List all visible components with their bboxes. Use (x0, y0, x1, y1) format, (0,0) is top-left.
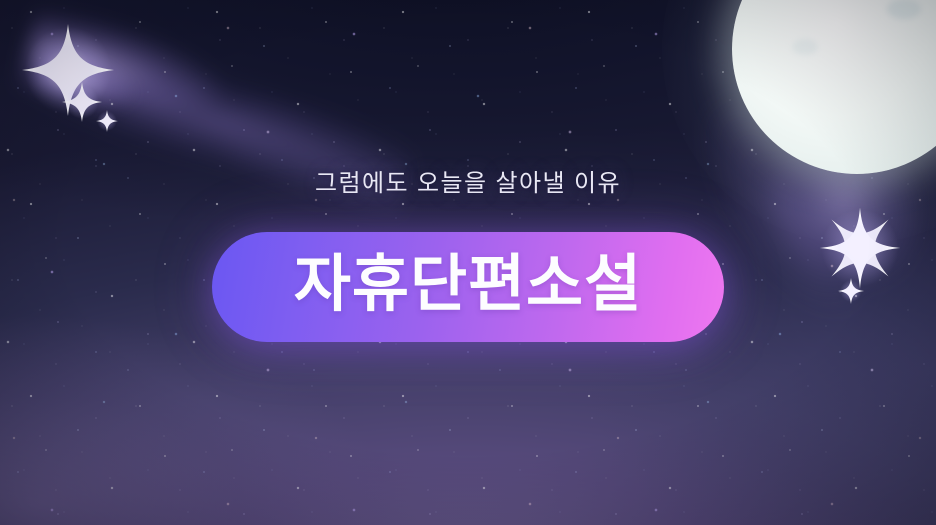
poster-subtitle: 그럼에도 오늘을 살아낼 이유 (315, 163, 621, 198)
poster-canvas: 그럼에도 오늘을 살아낼 이유 자휴단편소설 (0, 0, 936, 525)
poster-title: 자휴단편소설 (294, 254, 642, 316)
title-pill-badge[interactable]: 자휴단편소설 (212, 232, 724, 342)
